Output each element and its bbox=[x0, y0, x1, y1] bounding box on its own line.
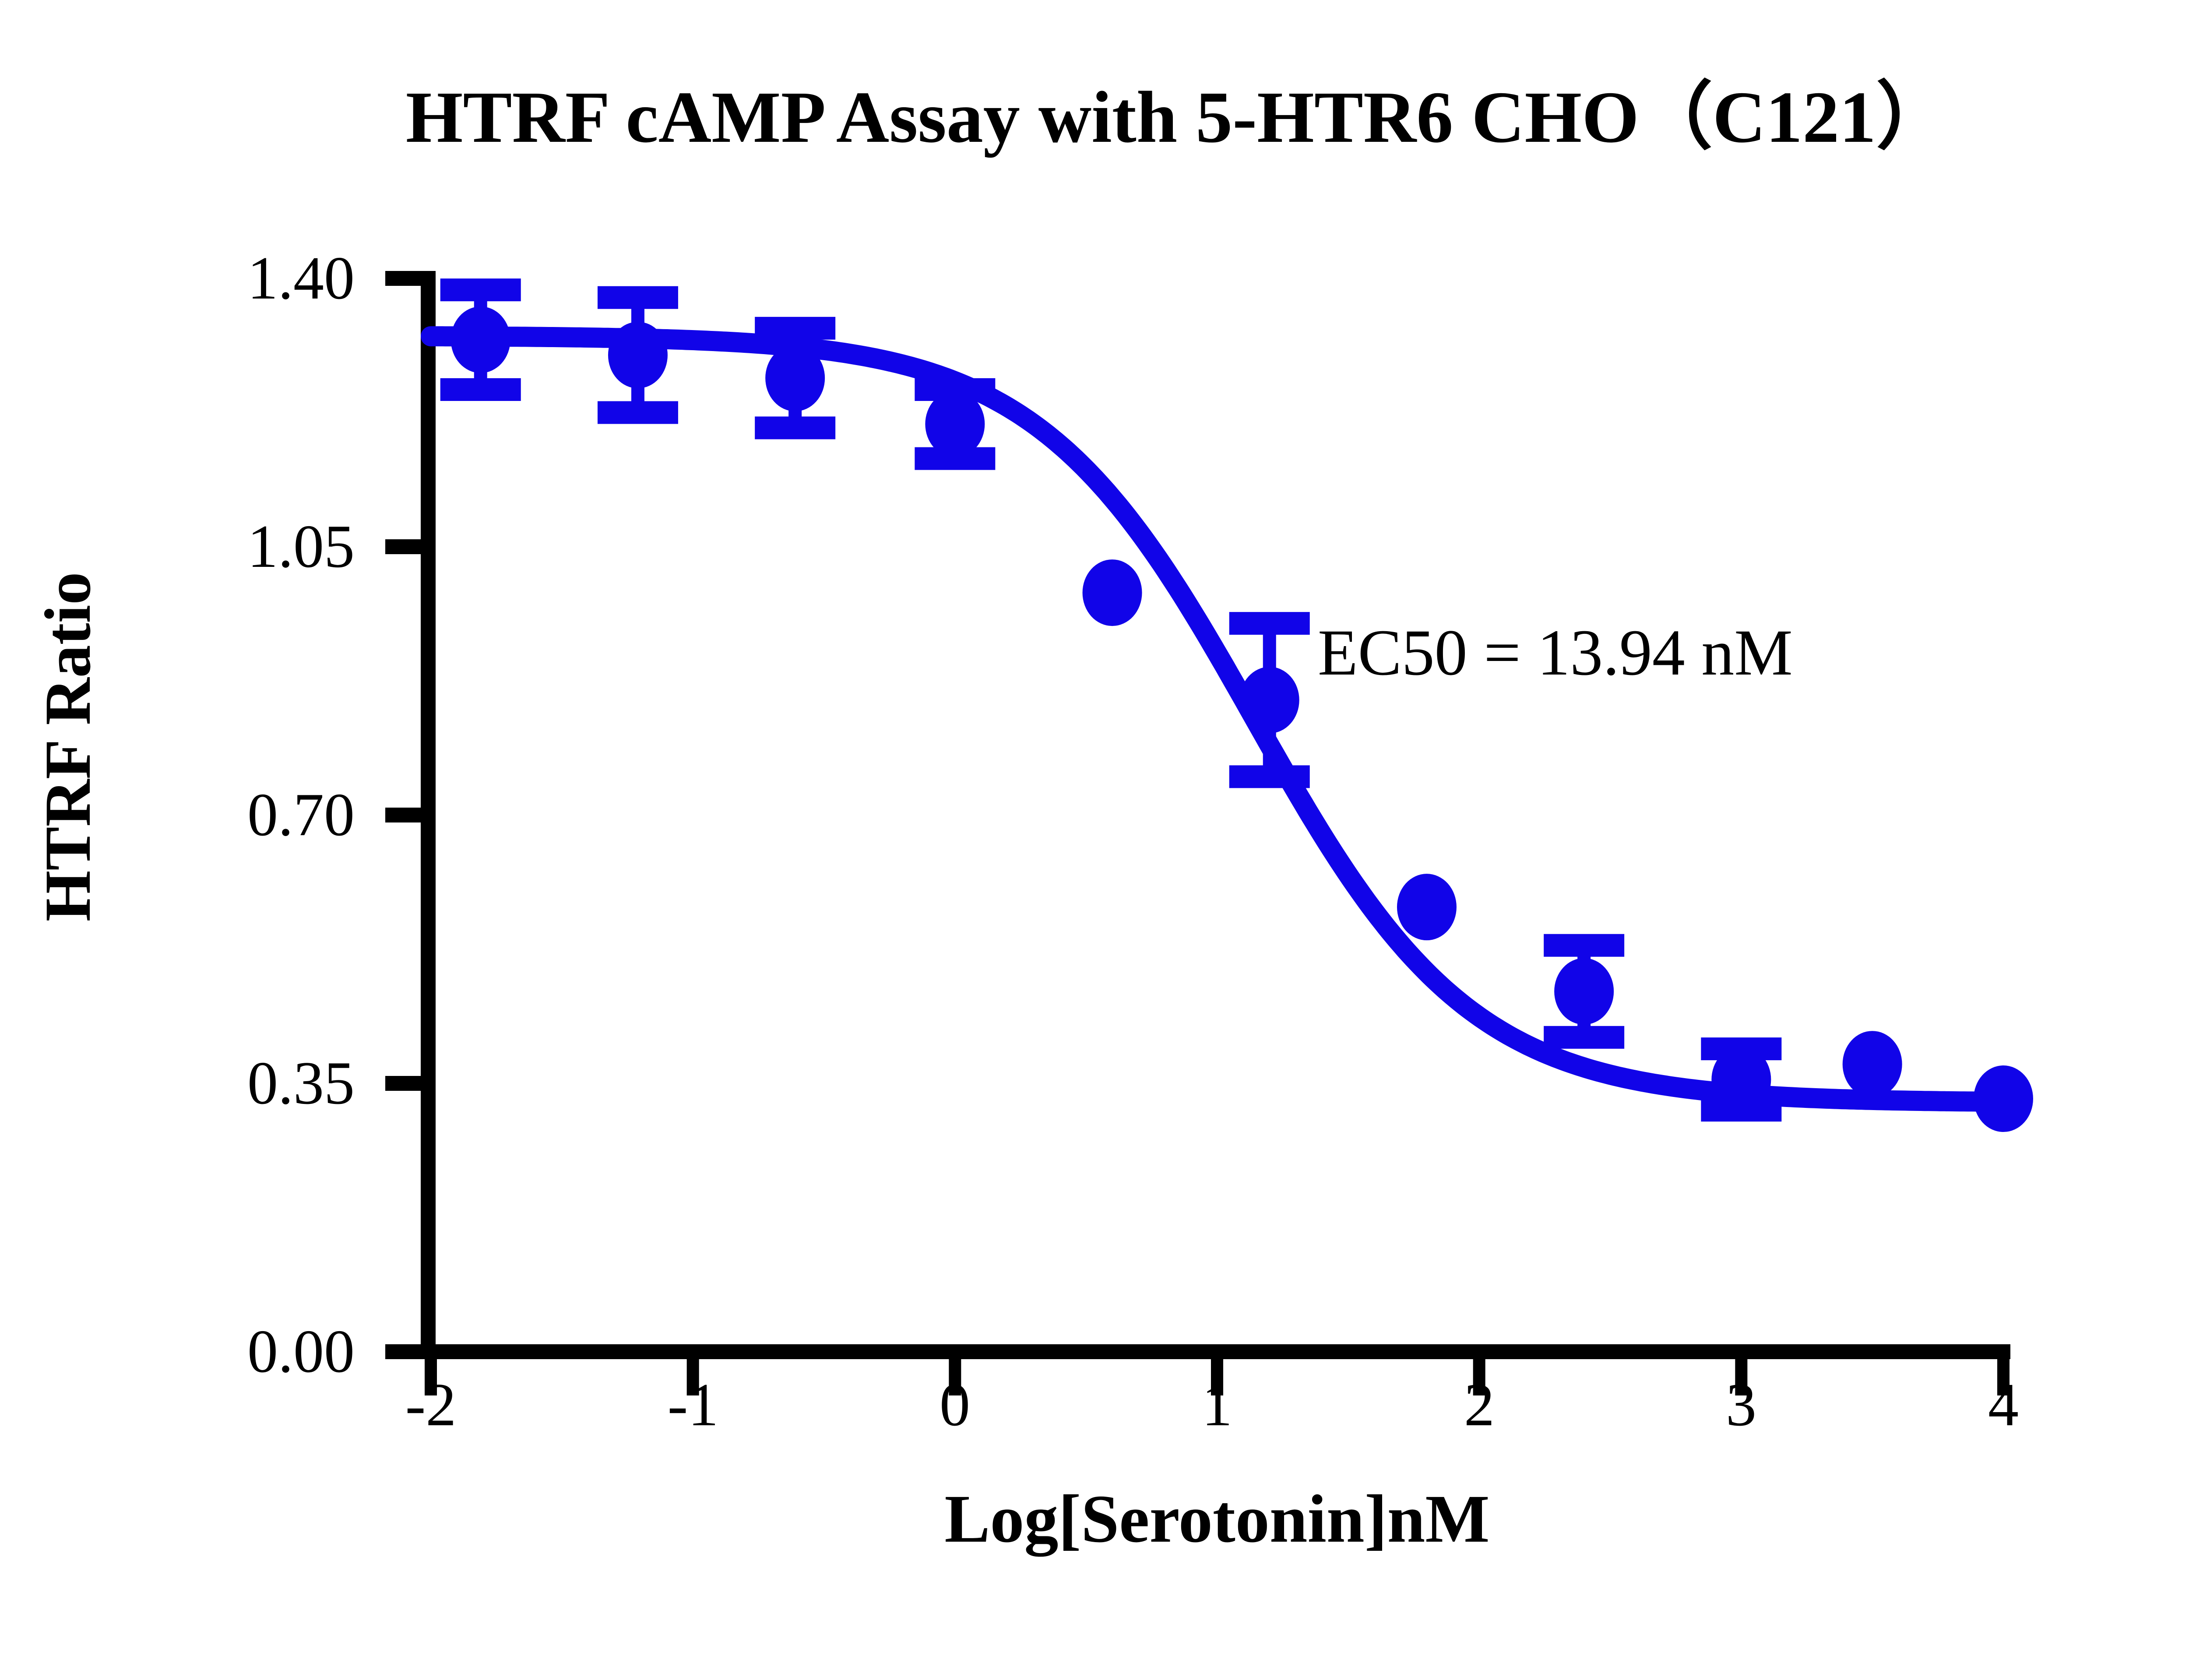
data-point bbox=[925, 391, 985, 457]
data-point bbox=[765, 345, 825, 411]
data-point bbox=[608, 322, 668, 388]
data-point bbox=[1397, 874, 1457, 940]
data-point bbox=[451, 306, 510, 373]
data-point bbox=[1711, 1046, 1771, 1113]
data-point bbox=[1843, 1031, 1902, 1097]
data-point-markers bbox=[451, 306, 2033, 1132]
axis-lines bbox=[421, 275, 2010, 1355]
data-point bbox=[1240, 667, 1299, 733]
chart-figure: HTRF cAMP Assay with 5-HTR6 CHO（C121） HT… bbox=[0, 0, 2189, 1680]
dose-response-curve bbox=[431, 336, 2003, 1102]
data-point bbox=[1083, 559, 1142, 626]
data-point bbox=[1974, 1065, 2033, 1132]
plot-area bbox=[0, 0, 2189, 1680]
data-point bbox=[1554, 958, 1614, 1025]
